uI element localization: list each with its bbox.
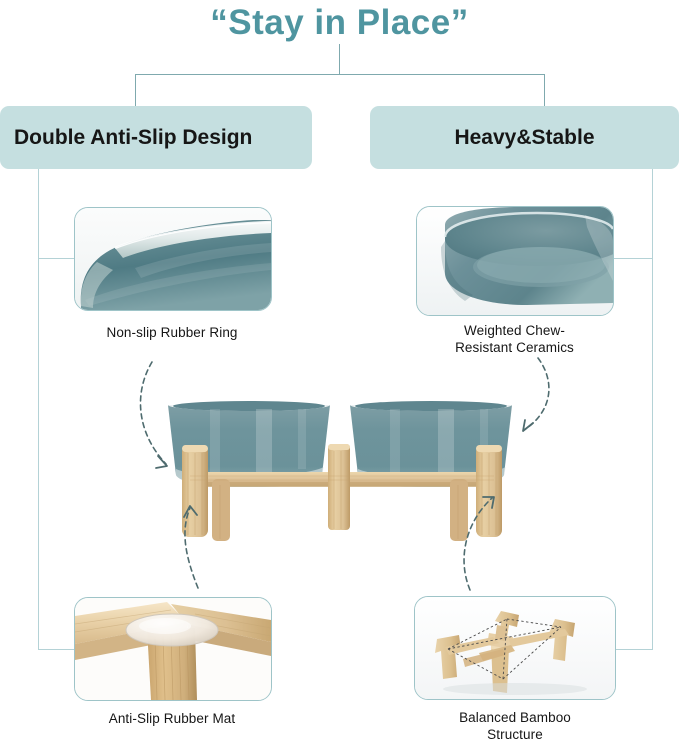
connector-left-branch-bot — [38, 649, 76, 650]
connector-right-spine — [652, 169, 653, 650]
feature-caption-non-slip-rubber-ring: Non-slip Rubber Ring — [42, 324, 302, 341]
category-pill-double-anti-slip[interactable]: Double Anti-Slip Design — [0, 106, 312, 169]
connector-right-branch-down — [544, 74, 545, 107]
page-title: “Stay in Place” — [0, 0, 679, 46]
bowl-base-rubber-ring-photo — [75, 208, 271, 310]
connector-right-branch-bot — [614, 649, 653, 650]
category-label-heavy-stable: Heavy&Stable — [454, 126, 594, 150]
bamboo-stand-geometry-photo — [415, 597, 615, 699]
feature-photo-weighted-ceramics[interactable] — [416, 206, 614, 316]
connector-title-stem — [339, 44, 340, 74]
feature-photo-balanced-bamboo[interactable] — [414, 596, 616, 700]
category-label-double-anti-slip: Double Anti-Slip Design — [14, 126, 252, 150]
connector-left-spine — [38, 169, 39, 650]
double-bowl-bamboo-stand-illustration — [150, 383, 530, 563]
connector-left-branch-top — [38, 258, 76, 259]
connector-left-branch-down — [135, 74, 136, 107]
bamboo-leg-rubber-mat-photo — [75, 598, 271, 700]
product-photo-elevated-double-bowl[interactable] — [150, 383, 530, 563]
feature-caption-anti-slip-rubber-mat: Anti-Slip Rubber Mat — [42, 710, 302, 727]
connector-right-branch-top — [614, 258, 653, 259]
feature-caption-weighted-ceramics: Weighted Chew- Resistant Ceramics — [402, 322, 627, 356]
connector-title-crossbar — [135, 74, 545, 75]
category-pill-heavy-stable[interactable]: Heavy&Stable — [370, 106, 679, 169]
feature-caption-balanced-bamboo: Balanced Bamboo Structure — [400, 709, 630, 743]
feature-photo-non-slip-rubber-ring[interactable] — [74, 207, 272, 311]
feature-photo-anti-slip-rubber-mat[interactable] — [74, 597, 272, 701]
ceramic-bowl-interior-photo — [417, 207, 613, 315]
